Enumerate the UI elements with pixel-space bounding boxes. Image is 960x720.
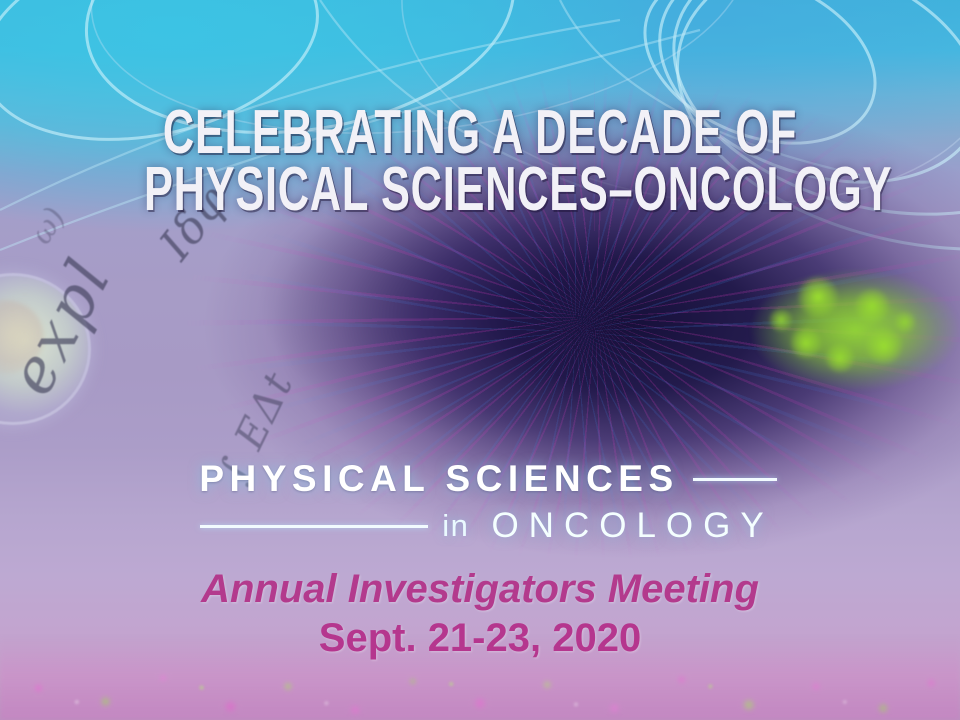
meeting-title: Annual Investigators Meeting: [0, 566, 960, 612]
conference-poster: ω) Iδφ expl ∫ EΔt CELEBRATING A DECADE O…: [0, 0, 960, 720]
blue-fiber-streaks: [0, 0, 960, 720]
bottom-speckle-highlights: [0, 660, 960, 720]
logo-rule-right-icon: [693, 478, 777, 481]
background-cyan-wash: [0, 0, 960, 720]
logo-line-2: in ONCOLOGY: [0, 506, 960, 546]
handwriting-note-2: Iδφ: [150, 174, 240, 269]
spiral-wave-arcs: [0, 0, 960, 720]
fluorescent-cell-cluster: [0, 0, 960, 720]
handwriting-note-3: ∫ EΔt: [210, 364, 303, 490]
magenta-fiber-streaks: [0, 0, 960, 720]
program-logo: PHYSICAL SCIENCES in ONCOLOGY: [0, 458, 960, 546]
background-vortex: [0, 0, 960, 720]
logo-oncology: ONCOLOGY: [491, 506, 773, 546]
headline-line-1: CELEBRATING A DECADE OF: [144, 104, 816, 162]
logo-in-word: in: [442, 508, 469, 544]
background-gradient: [0, 0, 960, 720]
logo-physical-sciences: PHYSICAL SCIENCES: [199, 458, 678, 500]
handwriting-note-4: ω): [24, 201, 73, 250]
logo-rule-left-icon: [200, 525, 428, 528]
headline-line-2: PHYSICAL SCIENCES–ONCOLOGY: [144, 162, 816, 218]
logo-line-1: PHYSICAL SCIENCES: [0, 458, 960, 500]
headline: CELEBRATING A DECADE OF PHYSICAL SCIENCE…: [0, 104, 960, 218]
